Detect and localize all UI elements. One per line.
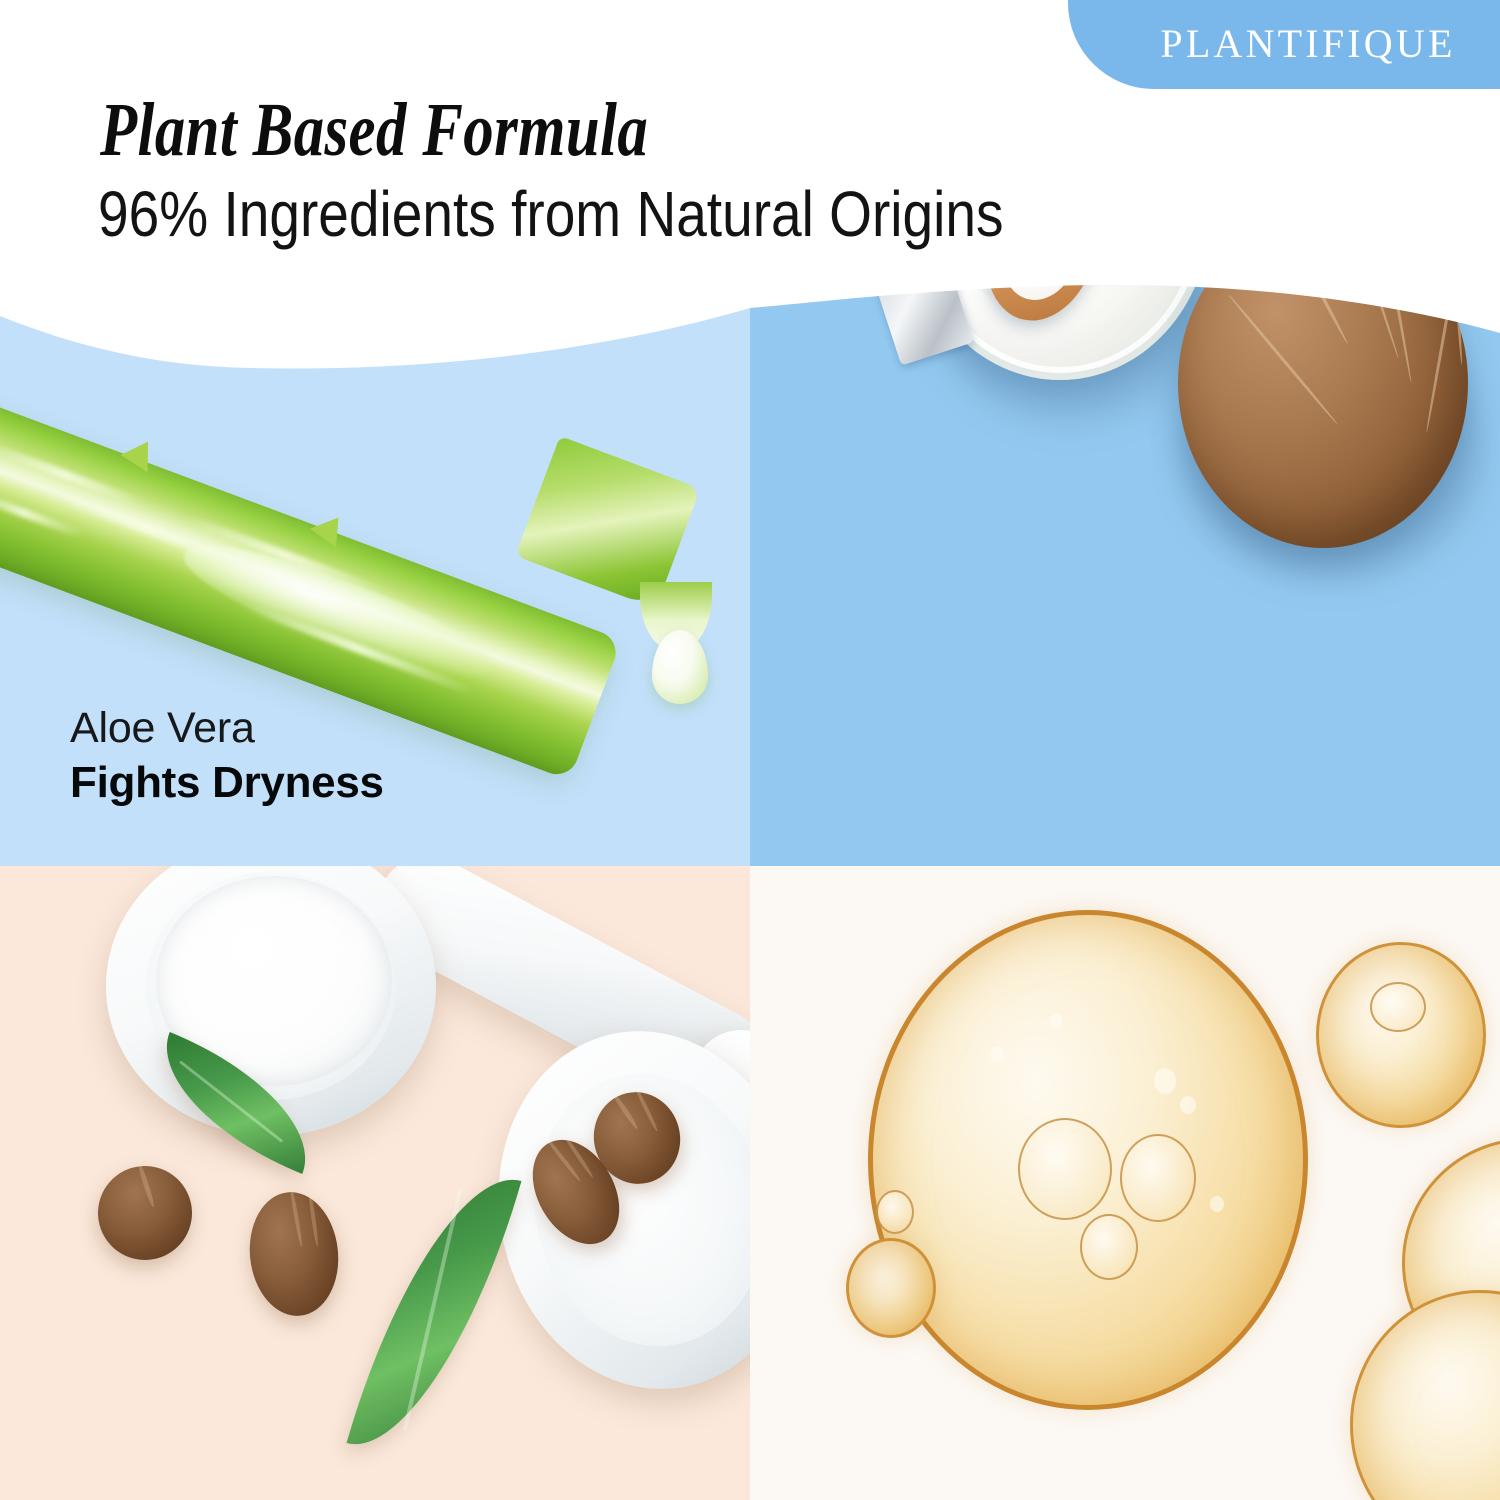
nut-grain xyxy=(307,1189,319,1247)
coconut-oil-illustration xyxy=(750,0,1500,866)
page-title: Plant Based Formula xyxy=(100,92,648,168)
aloe-gel-highlight xyxy=(173,525,504,699)
vitamin-e-illustration xyxy=(750,866,1500,1500)
nut-grain xyxy=(288,1188,303,1248)
coconut-fiber xyxy=(1227,293,1339,425)
shea-nut-loose xyxy=(92,1160,198,1266)
aloe-gel-droplet xyxy=(652,630,708,704)
ingredient-benefit: Fights Dryness xyxy=(70,758,384,807)
oil-bubble-bottom-right xyxy=(1350,1290,1500,1500)
leaf-vein xyxy=(403,1188,463,1431)
coconut-whole xyxy=(1178,218,1468,548)
coconut-oil-scoop xyxy=(990,183,1095,310)
oil-bubble-speck xyxy=(1050,1014,1062,1028)
oil-bubble-inner xyxy=(1120,1134,1196,1222)
ingredient-name: Aloe Vera xyxy=(70,706,384,752)
brand-badge: PLANTIFIQUE xyxy=(1068,0,1500,89)
caption-aloe-vera: Aloe Vera Fights Dryness xyxy=(70,706,384,807)
panel-vitamin-e: Vitamin E Hydrates dry skin xyxy=(750,866,1500,1500)
coconut-fiber xyxy=(1326,218,1400,359)
oil-bubble-inner xyxy=(1018,1118,1112,1220)
oil-bubble-speck xyxy=(1180,1096,1196,1114)
shea-butter-illustration xyxy=(0,866,750,1500)
page-subtitle: 96% Ingredients from Natural Origins xyxy=(98,182,1003,246)
product-infographic: Aloe Vera Fights Dryness xyxy=(0,0,1500,1500)
nut-grain xyxy=(611,1091,640,1130)
aloe-stripe xyxy=(0,486,86,540)
oil-bubble-small xyxy=(876,1190,914,1234)
oil-bubble-inner xyxy=(1370,982,1426,1032)
coconut-fiber xyxy=(1257,218,1350,345)
aloe-tooth xyxy=(121,433,162,472)
oil-bubble-speck xyxy=(1210,1196,1224,1212)
green-leaf-lower xyxy=(347,1155,522,1470)
oil-bubble-speck xyxy=(1154,1068,1176,1094)
oil-bubble-speck xyxy=(990,1046,1004,1062)
panel-coconut-oil: Coconut Oil Nourishes rough skin xyxy=(750,0,1500,866)
aloe-tooth xyxy=(310,508,351,548)
brand-name: PLANTIFIQUE xyxy=(1160,24,1455,66)
shea-nut-loose xyxy=(244,1188,344,1321)
oil-bubble-upper-right xyxy=(1316,942,1486,1128)
nut-grain xyxy=(136,1161,156,1208)
oil-bubble-inner xyxy=(1080,1214,1138,1280)
panel-shea-butter: Shea Butter Soothes & Softens xyxy=(0,866,750,1500)
coconut-fiber xyxy=(1425,246,1461,434)
oil-bubble-small-left xyxy=(846,1238,936,1338)
